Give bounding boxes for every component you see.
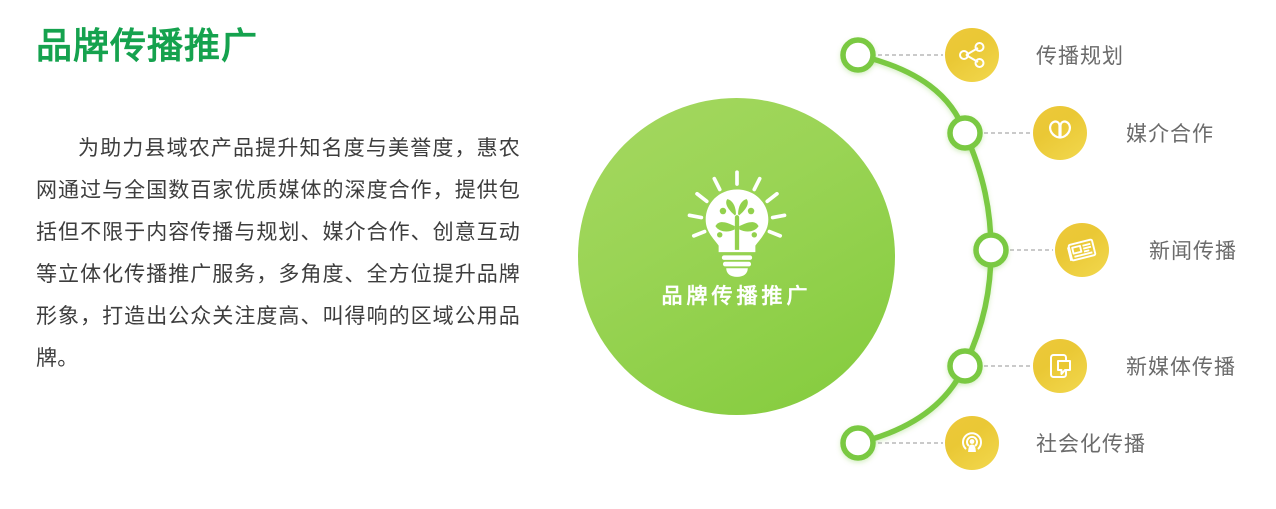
item-label-4: 新媒体传播 [1126,351,1236,381]
item-row-1[interactable]: 传播规划 [945,28,1124,82]
text-panel: 品牌传播推广 为助力县域农产品提升知名度与美誉度，惠农网通过与全国数百家优质媒体… [0,0,560,509]
item-row-4[interactable]: 新媒体传播 [1033,339,1236,393]
hub-circle[interactable]: 品牌传播推广 [578,98,895,415]
page-title: 品牌传播推广 [36,24,258,67]
mobile-chat-icon[interactable] [1033,339,1087,393]
item-label-2: 媒介合作 [1126,118,1214,148]
node-circle-5[interactable] [843,428,873,458]
node-circle-2[interactable] [950,118,980,148]
item-row-2[interactable]: 媒介合作 [1033,106,1214,160]
body-paragraph: 为助力县域农产品提升知名度与美誉度，惠农网通过与全国数百家优质媒体的深度合作，提… [36,128,520,380]
newspaper-icon[interactable] [1055,223,1109,277]
hub-label: 品牌传播推广 [578,280,895,310]
item-row-3[interactable]: 新闻传播 [1055,223,1237,277]
share-network-icon[interactable] [945,28,999,82]
node-circle-3[interactable] [976,235,1006,265]
lightbulb-plant-icon [683,170,791,278]
node-circle-4[interactable] [950,351,980,381]
broadcast-signal-icon[interactable] [945,416,999,470]
brand-promotion-diagram: 品牌传播推广 传播规划 [560,0,1276,509]
item-label-1: 传播规划 [1036,40,1124,70]
item-label-3: 新闻传播 [1149,235,1237,265]
handshake-hearts-icon[interactable] [1033,106,1087,160]
node-circle-1[interactable] [843,40,873,70]
item-row-5[interactable]: 社会化传播 [945,416,1146,470]
item-label-5: 社会化传播 [1036,428,1146,458]
